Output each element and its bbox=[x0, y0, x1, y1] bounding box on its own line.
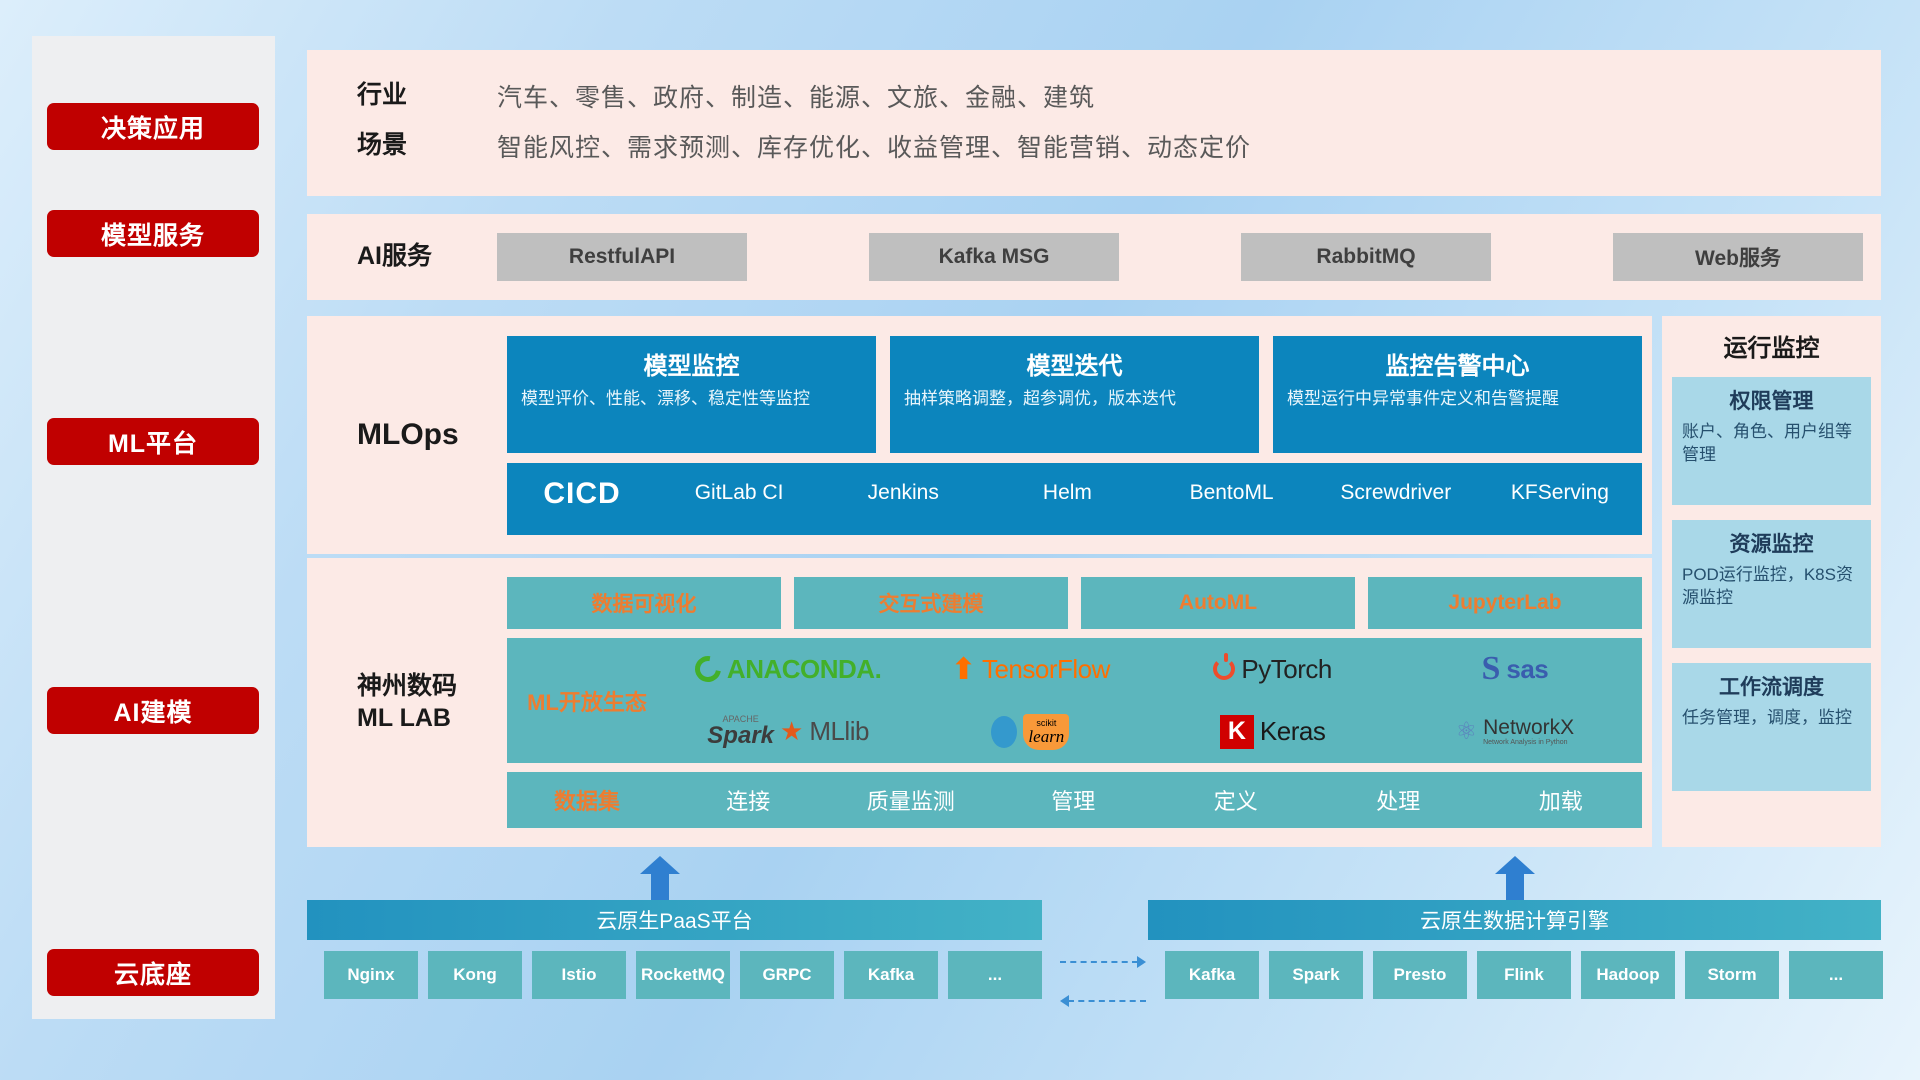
ml-lab-label-line2: ML LAB bbox=[357, 703, 507, 734]
ai-service-label: AI服务 bbox=[357, 241, 497, 272]
stage-label: 决策应用 bbox=[101, 109, 205, 145]
service-chip-rabbitmq[interactable]: RabbitMQ bbox=[1241, 233, 1491, 281]
scikit-learn-logo[interactable]: scikit learn bbox=[991, 714, 1069, 750]
stage-chip-model-service[interactable]: 模型服务 bbox=[47, 210, 259, 257]
cicd-item-gitlab-ci[interactable]: GitLab CI bbox=[657, 477, 821, 506]
industry-row: 行业 汽车、零售、政府、制造、能源、文旅、金融、建筑 bbox=[357, 71, 1881, 121]
data-chip-spark[interactable]: Spark bbox=[1269, 951, 1363, 999]
card-title: 工作流调度 bbox=[1682, 671, 1861, 701]
spark-star-icon: ★ bbox=[780, 716, 803, 747]
ai-service-band: AI服务 RestfulAPI Kafka MSG RabbitMQ Web服务 bbox=[307, 214, 1881, 300]
card-title: 模型迭代 bbox=[904, 346, 1245, 381]
card-desc: 任务管理，调度，监控 bbox=[1682, 707, 1861, 730]
ml-ecosystem-logos: ANACONDA. ⬆ TensorFlow PyTorch S sas bbox=[667, 638, 1642, 763]
data-engine-chip-strip: Kafka Spark Presto Flink Hadoop Storm ..… bbox=[1165, 951, 1883, 999]
keras-logo-text: Keras bbox=[1260, 716, 1325, 747]
pytorch-logo[interactable]: PyTorch bbox=[1213, 654, 1331, 685]
ml-lab-label: 神州数码 ML LAB bbox=[357, 671, 507, 734]
card-title: 权限管理 bbox=[1682, 385, 1861, 415]
paas-chip-strip: Nginx Kong Istio RocketMQ GRPC Kafka ... bbox=[324, 951, 1042, 999]
keras-logo[interactable]: K Keras bbox=[1220, 715, 1325, 749]
dataset-item-manage[interactable]: 管理 bbox=[992, 784, 1155, 816]
keras-k-icon: K bbox=[1220, 715, 1254, 749]
scenario-row: 场景 智能风控、需求预测、库存优化、收益管理、智能营销、动态定价 bbox=[357, 121, 1881, 171]
mlops-card-alert-center[interactable]: 监控告警中心 模型运行中异常事件定义和告警提醒 bbox=[1273, 336, 1642, 453]
paas-chip-kafka[interactable]: Kafka bbox=[844, 951, 938, 999]
ml-lab-content: 数据可视化 交互式建模 AutoML JupyterLab ML开放生态 ANA… bbox=[507, 577, 1652, 828]
cicd-title: CICD bbox=[507, 477, 657, 511]
data-chip-more[interactable]: ... bbox=[1789, 951, 1883, 999]
scikit-learn-text: learn bbox=[1028, 728, 1064, 745]
cicd-item-jenkins[interactable]: Jenkins bbox=[821, 477, 985, 506]
spark-word-text: Spark bbox=[707, 724, 774, 748]
dashed-arrow-right-icon bbox=[1060, 961, 1146, 963]
cicd-item-helm[interactable]: Helm bbox=[985, 477, 1149, 506]
ml-ecosystem-label: ML开放生态 bbox=[507, 685, 667, 717]
ai-service-items: RestfulAPI Kafka MSG RabbitMQ Web服务 bbox=[497, 233, 1881, 281]
runtime-monitoring-title: 运行监控 bbox=[1672, 328, 1871, 363]
dataset-item-connect[interactable]: 连接 bbox=[667, 784, 830, 816]
mlops-content: 模型监控 模型评价、性能、漂移、稳定性等监控 模型迭代 抽样策略调整，超参调优，… bbox=[507, 336, 1652, 535]
card-desc: 抽样策略调整，超参调优，版本迭代 bbox=[904, 388, 1245, 411]
pytorch-flame-icon bbox=[1213, 658, 1235, 680]
scenario-key: 场景 bbox=[357, 130, 497, 161]
networkx-logo-text: NetworkX bbox=[1483, 716, 1574, 739]
tensorflow-logo-text: TensorFlow bbox=[982, 654, 1110, 685]
stage-chip-cloud-base[interactable]: 云底座 bbox=[47, 949, 259, 996]
anaconda-logo[interactable]: ANACONDA. bbox=[695, 654, 881, 685]
stage-chip-ai-modeling[interactable]: AI建模 bbox=[47, 687, 259, 734]
tool-chip-data-visualization[interactable]: 数据可视化 bbox=[507, 577, 781, 629]
data-chip-flink[interactable]: Flink bbox=[1477, 951, 1571, 999]
industry-key: 行业 bbox=[357, 80, 497, 111]
ml-ecosystem-row: ML开放生态 ANACONDA. ⬆ TensorFlow PyTorch bbox=[507, 638, 1642, 763]
paas-chip-grpc[interactable]: GRPC bbox=[740, 951, 834, 999]
tensorflow-logo[interactable]: ⬆ TensorFlow bbox=[951, 652, 1110, 687]
stage-chip-decision[interactable]: 决策应用 bbox=[47, 103, 259, 150]
monitor-card-workflow[interactable]: 工作流调度 任务管理，调度，监控 bbox=[1672, 663, 1871, 791]
cloud-paas-header: 云原生PaaS平台 bbox=[307, 900, 1042, 940]
service-chip-kafka-msg[interactable]: Kafka MSG bbox=[869, 233, 1119, 281]
card-title: 资源监控 bbox=[1682, 528, 1861, 558]
sas-swirl-icon: S bbox=[1481, 650, 1500, 688]
tool-chip-automl[interactable]: AutoML bbox=[1081, 577, 1355, 629]
service-chip-web-service[interactable]: Web服务 bbox=[1613, 233, 1863, 281]
mlops-card-model-monitoring[interactable]: 模型监控 模型评价、性能、漂移、稳定性等监控 bbox=[507, 336, 876, 453]
data-chip-storm[interactable]: Storm bbox=[1685, 951, 1779, 999]
industry-scenario-band: 行业 汽车、零售、政府、制造、能源、文旅、金融、建筑 场景 智能风控、需求预测、… bbox=[307, 50, 1881, 196]
paas-chip-kong[interactable]: Kong bbox=[428, 951, 522, 999]
service-chip-label: RestfulAPI bbox=[569, 245, 675, 269]
service-chip-label: Web服务 bbox=[1695, 242, 1781, 272]
dataset-item-process[interactable]: 处理 bbox=[1317, 784, 1480, 816]
dataset-label: 数据集 bbox=[507, 784, 667, 816]
runtime-monitoring-panel: 运行监控 权限管理 账户、角色、用户组等管理 资源监控 POD运行监控，K8S资… bbox=[1662, 316, 1881, 847]
architecture-diagram: 决策应用 模型服务 ML平台 AI建模 云底座 行业 汽车、零售、政府、制造、能… bbox=[0, 0, 1920, 1080]
ml-lab-band: 神州数码 ML LAB 数据可视化 交互式建模 AutoML JupyterLa… bbox=[307, 558, 1652, 847]
data-chip-hadoop[interactable]: Hadoop bbox=[1581, 951, 1675, 999]
monitor-card-resource[interactable]: 资源监控 POD运行监控，K8S资源监控 bbox=[1672, 520, 1871, 648]
card-desc: POD运行监控，K8S资源监控 bbox=[1682, 564, 1861, 610]
mlops-card-list: 模型监控 模型评价、性能、漂移、稳定性等监控 模型迭代 抽样策略调整，超参调优，… bbox=[507, 336, 1642, 453]
card-title: 模型监控 bbox=[521, 346, 862, 381]
sas-logo[interactable]: S sas bbox=[1481, 650, 1548, 688]
stage-chip-ml-platform[interactable]: ML平台 bbox=[47, 418, 259, 465]
data-engine-up-arrow-icon bbox=[1495, 856, 1535, 900]
ml-tool-row: 数据可视化 交互式建模 AutoML JupyterLab bbox=[507, 577, 1642, 629]
tool-chip-jupyterlab[interactable]: JupyterLab bbox=[1368, 577, 1642, 629]
cicd-item-bentoml[interactable]: BentoML bbox=[1150, 477, 1314, 506]
card-desc: 模型运行中异常事件定义和告警提醒 bbox=[1287, 388, 1628, 411]
dataset-item-load[interactable]: 加载 bbox=[1480, 784, 1643, 816]
dashed-arrow-left-icon bbox=[1060, 1000, 1146, 1002]
paas-chip-rocketmq[interactable]: RocketMQ bbox=[636, 951, 730, 999]
paas-chip-more[interactable]: ... bbox=[948, 951, 1042, 999]
mlops-label: MLOps bbox=[357, 416, 507, 454]
paas-chip-nginx[interactable]: Nginx bbox=[324, 951, 418, 999]
card-desc: 模型评价、性能、漂移、稳定性等监控 bbox=[521, 388, 862, 411]
mlops-card-model-iteration[interactable]: 模型迭代 抽样策略调整，超参调优，版本迭代 bbox=[890, 336, 1259, 453]
cicd-item-screwdriver[interactable]: Screwdriver bbox=[1314, 477, 1478, 506]
card-desc: 账户、角色、用户组等管理 bbox=[1682, 421, 1861, 467]
tool-chip-interactive-modeling[interactable]: 交互式建模 bbox=[794, 577, 1068, 629]
scikit-badge-icon: scikit learn bbox=[1023, 714, 1069, 750]
service-chip-label: RabbitMQ bbox=[1316, 245, 1415, 269]
cloud-data-engine-header: 云原生数据计算引擎 bbox=[1148, 900, 1881, 940]
anaconda-ring-icon bbox=[690, 651, 726, 687]
card-title: 监控告警中心 bbox=[1287, 346, 1628, 381]
data-chip-presto[interactable]: Presto bbox=[1373, 951, 1467, 999]
anaconda-logo-text: ANACONDA. bbox=[727, 654, 881, 685]
sas-logo-text: sas bbox=[1506, 654, 1548, 685]
mllib-logo-text: MLlib bbox=[809, 716, 869, 747]
spark-mllib-logo[interactable]: APACHE Spark ★ MLlib bbox=[707, 715, 869, 748]
stage-label: ML平台 bbox=[108, 424, 198, 460]
cloud-paas-title: 云原生PaaS平台 bbox=[596, 905, 752, 935]
stage-label: 模型服务 bbox=[101, 216, 205, 252]
scenario-value: 智能风控、需求预测、库存优化、收益管理、智能营销、动态定价 bbox=[497, 128, 1251, 164]
ml-lab-label-line1: 神州数码 bbox=[357, 671, 507, 702]
dataset-item-define[interactable]: 定义 bbox=[1155, 784, 1318, 816]
mlops-band: MLOps 模型监控 模型评价、性能、漂移、稳定性等监控 模型迭代 抽样策略调整… bbox=[307, 316, 1652, 554]
service-chip-restfulapi[interactable]: RestfulAPI bbox=[497, 233, 747, 281]
industry-value: 汽车、零售、政府、制造、能源、文旅、金融、建筑 bbox=[497, 78, 1095, 114]
stage-label: 云底座 bbox=[114, 955, 192, 991]
data-chip-kafka[interactable]: Kafka bbox=[1165, 951, 1259, 999]
stage-rail: 决策应用 模型服务 ML平台 AI建模 云底座 bbox=[32, 36, 275, 1019]
cicd-item-kfserving[interactable]: KFServing bbox=[1478, 477, 1642, 506]
stage-label: AI建模 bbox=[113, 693, 192, 729]
paas-up-arrow-icon bbox=[640, 856, 680, 900]
cicd-bar: CICD GitLab CI Jenkins Helm BentoML Scre… bbox=[507, 463, 1642, 535]
scikit-blob-icon bbox=[991, 716, 1017, 748]
dataset-item-quality[interactable]: 质量监测 bbox=[830, 784, 993, 816]
dataset-row: 数据集 连接 质量监测 管理 定义 处理 加载 bbox=[507, 772, 1642, 828]
networkx-logo[interactable]: ⚛ NetworkX Network Analysis in Python bbox=[1456, 716, 1575, 747]
paas-chip-istio[interactable]: Istio bbox=[532, 951, 626, 999]
pytorch-logo-text: PyTorch bbox=[1241, 654, 1331, 685]
cloud-data-title: 云原生数据计算引擎 bbox=[1420, 905, 1609, 935]
networkx-graph-icon: ⚛ bbox=[1456, 717, 1478, 746]
service-chip-label: Kafka MSG bbox=[939, 245, 1050, 269]
monitor-card-permission[interactable]: 权限管理 账户、角色、用户组等管理 bbox=[1672, 377, 1871, 505]
tensorflow-mark-icon: ⬆ bbox=[951, 652, 976, 687]
networkx-subtitle: Network Analysis in Python bbox=[1483, 739, 1574, 747]
